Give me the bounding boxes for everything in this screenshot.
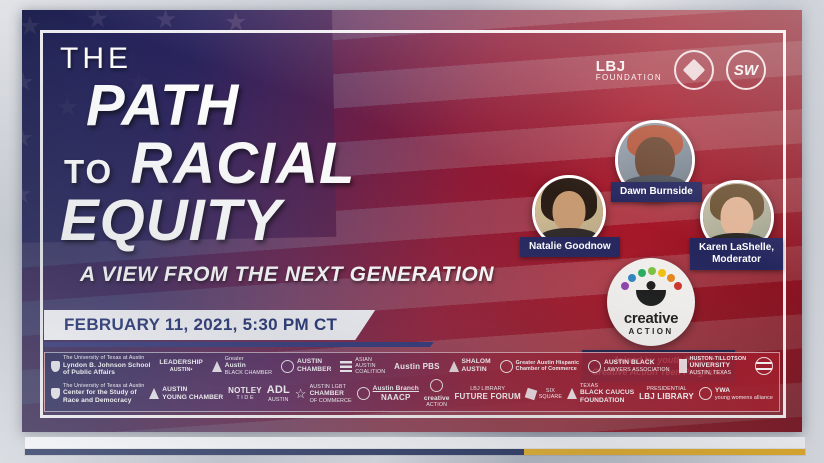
arc-dot: [648, 267, 656, 275]
sponsor-sub: of Public Affairs: [63, 369, 115, 376]
stripes-icon: [340, 361, 352, 372]
sponsor-main: Greater Austin Hispanic: [516, 360, 580, 366]
sponsor-row-1: The University of Texas at Austin Lyndon…: [51, 355, 773, 377]
desktop-backdrop: ★ ★ ★ ★ ★ ★ ★ ★ ★ ★ ★ ★ THE PATH TO RACI…: [0, 0, 824, 463]
slide-subtitle: A VIEW FROM THE NEXT GENERATION: [80, 263, 500, 287]
sponsor-sub: OF COMMERCE: [310, 398, 352, 404]
sponsor-sub: AUSTIN, TEXAS: [690, 370, 732, 376]
speaker-name-text: Karen LaShelle,: [699, 242, 774, 254]
title-racial-line: TO RACIAL: [64, 136, 500, 192]
sponsor-sub: AUSTIN•: [170, 367, 193, 373]
figure-body: [636, 290, 666, 306]
top-logo-row: LBJ FOUNDATION SW: [596, 50, 766, 90]
sponsor-main: SQUARE: [539, 394, 562, 400]
sponsor-main: creative: [424, 395, 450, 402]
sponsor-ut-center-race-democracy: The University of Texas at Austin Center…: [51, 383, 144, 405]
sponsor-sub: AUSTIN: [462, 366, 487, 373]
sponsor-sub: LAWYERS ASSOCIATION: [604, 367, 670, 373]
sponsor-sup: The University of Texas at Austin: [63, 355, 144, 361]
star-burst-icon: [212, 361, 222, 372]
title-path: PATH: [86, 78, 500, 134]
speaker-dawn-burnside: Dawn Burnside: [615, 120, 695, 200]
title-block: THE PATH TO RACIAL EQUITY A VIEW FROM TH…: [60, 44, 500, 287]
sponsor-sub: BLACK CHAMBER: [225, 370, 272, 376]
flower-mark-icon: [500, 360, 513, 373]
sponsor-sub: COALITION: [355, 369, 385, 375]
naacp-seal-icon: [357, 387, 370, 400]
sponsor-main: UNIVERSITY: [690, 362, 731, 369]
sponsor-equality-texas: [755, 357, 773, 375]
speaker-natalie-goodnow: Natalie Goodnow: [532, 175, 606, 249]
six-square-icon: [524, 388, 537, 401]
speaker-name-label: Natalie Goodnow: [520, 237, 620, 257]
ayc-mark-icon: [149, 388, 159, 399]
arc-dot: [674, 282, 682, 290]
sponsor-leadership-austin: LEADERSHIP AUSTIN•: [159, 359, 203, 373]
sponsor-main: AUSTIN: [297, 358, 322, 365]
creative-action-figure-icon: [636, 287, 666, 307]
sponsor-main: LBJ LIBRARY: [639, 392, 694, 401]
ut-shield-icon: [51, 388, 60, 399]
sponsor-sup: The University of Texas at Austin: [63, 383, 144, 389]
video-player-bar[interactable]: [0, 441, 824, 463]
arc-dot: [658, 269, 666, 277]
equality-icon: [755, 357, 773, 375]
sponsor-austin-young-chamber: AUSTIN YOUNG CHAMBER: [149, 386, 223, 402]
progress-track[interactable]: [25, 449, 805, 455]
sponsor-texas-black-caucus-foundation: TEXAS BLACK CAUCUS FOUNDATION: [567, 383, 634, 405]
sponsor-main: ADL: [267, 384, 290, 396]
seal-emblem-icon: [683, 59, 706, 82]
sponsor-sup: SIX: [546, 388, 555, 394]
title-racial: RACIAL: [130, 131, 355, 196]
ut-shield-icon: [51, 361, 60, 372]
sponsor-adl-austin: ADL AUSTIN: [267, 384, 290, 403]
sponsor-sup: AUSTIN LGBT: [310, 384, 346, 390]
sponsor-sub: Race and Democracy: [63, 397, 132, 404]
sponsor-sub: CHAMBER: [297, 366, 331, 373]
arc-dot: [667, 274, 675, 282]
sponsor-sub: young womens alliance: [715, 395, 773, 401]
sponsor-main: SHALOM: [462, 358, 491, 365]
sponsor-austin-lgbt-chamber: ☆ AUSTIN LGBT CHAMBER OF COMMERCE: [295, 384, 352, 405]
creative-action-word2: ACTION: [628, 327, 673, 336]
portrait-image: [535, 178, 603, 246]
sponsor-huston-tillotson-university: HUSTON-TILLOTSON UNIVERSITY AUSTIN, TEXA…: [679, 356, 747, 377]
arc-dot: [638, 269, 646, 277]
sponsor-main: LEADERSHIP: [159, 359, 203, 366]
sponsor-main: CHAMBER: [310, 390, 344, 397]
title-to: TO: [64, 153, 113, 190]
sponsor-creative-action: creative ACTION: [424, 379, 450, 409]
flame-icon: [449, 361, 459, 372]
speaker-role-text: Moderator: [699, 254, 774, 266]
sponsor-main: NOTLEY: [228, 386, 262, 395]
sponsor-main: Austin: [225, 362, 246, 369]
sponsor-ywa: YWA young womens alliance: [699, 387, 773, 401]
sponsor-main: Center for the Study of: [63, 389, 137, 396]
sponsor-sup: HUSTON-TILLOTSON: [690, 356, 747, 362]
sponsor-main: AUSTIN: [162, 386, 187, 393]
date-underbar: [44, 342, 434, 347]
creative-action-mark-icon: [430, 379, 443, 392]
sponsor-naacp-austin-branch: Austin Branch NAACP: [357, 385, 419, 402]
creative-action-word1: creative: [624, 310, 678, 327]
sponsor-sup: ASIAN: [355, 357, 372, 363]
sponsor-sup: Greater: [225, 356, 244, 362]
sponsor-row-2: The University of Texas at Austin Center…: [51, 379, 773, 409]
lbj-foundation-line1: LBJ: [596, 59, 662, 74]
speaker-karen-lashelle: Karen LaShelle, Moderator: [700, 180, 774, 254]
sponsor-sub: Chamber of Commerce: [516, 366, 577, 372]
creative-action-logo: creative ACTION: [607, 258, 695, 346]
sponsor-main: AUSTIN: [355, 363, 375, 369]
sponsor-austin-chamber: AUSTIN CHAMBER: [281, 358, 331, 374]
sponsor-main: YWA: [715, 387, 730, 394]
chamber-mark-icon: [281, 360, 294, 373]
progress-remaining[interactable]: [524, 449, 805, 455]
title-equity: EQUITY: [60, 193, 500, 249]
arc-dot: [628, 274, 636, 282]
sponsor-sup: PRESIDENTIAL: [646, 386, 686, 392]
ywa-mark-icon: [699, 387, 712, 400]
sponsor-lbj-library-future-forum: LBJ LIBRARY FUTURE FORUM: [454, 386, 520, 402]
sponsor-sub: ACTION: [426, 402, 447, 408]
sponsor-asian-austin: ASIAN AUSTIN COALITION: [340, 357, 385, 376]
sponsor-lbj-presidential-library: PRESIDENTIAL LBJ LIBRARY: [639, 386, 694, 402]
title-the: THE: [60, 44, 500, 74]
texas-flag-icon: [567, 388, 577, 399]
presentation-slide: ★ ★ ★ ★ ★ ★ ★ ★ ★ ★ ★ ★ THE PATH TO RACI…: [22, 10, 802, 432]
sponsor-greater-austin-hispanic-chamber: Greater Austin Hispanic Chamber of Comme…: [500, 360, 580, 373]
sw-logo: SW: [726, 50, 766, 90]
player-bar-background: [25, 437, 805, 449]
sponsor-main: BLACK CAUCUS: [580, 389, 634, 396]
sponsor-greater-austin-black-chamber: Greater Austin BLACK CHAMBER: [212, 356, 272, 377]
sponsor-sub: AUSTIN: [268, 397, 288, 403]
sponsor-sup: LBJ LIBRARY: [470, 386, 505, 392]
lbj-foundation-logo: LBJ FOUNDATION: [596, 59, 662, 82]
sponsor-main: NAACP: [381, 393, 410, 402]
sponsor-sub: FOUNDATION: [580, 397, 624, 404]
sponsor-main: Austin PBS: [394, 362, 440, 371]
sponsor-shalom-austin: SHALOM AUSTIN: [449, 358, 491, 374]
sponsor-six-square: SIX SQUARE: [526, 388, 562, 401]
abla-seal-icon: [588, 360, 601, 373]
ut-seal-logo: [674, 50, 714, 90]
speaker-name-label: Karen LaShelle, Moderator: [690, 238, 783, 270]
sponsor-sub: T I D E: [236, 395, 253, 401]
figure-head: [647, 281, 656, 290]
progress-played[interactable]: [25, 449, 524, 455]
sponsor-notley-tide: NOTLEY T I D E: [228, 386, 262, 402]
sponsor-main: AUSTIN BLACK: [604, 359, 655, 366]
lgbt-star-icon: ☆: [295, 386, 307, 401]
lbj-foundation-line2: FOUNDATION: [596, 74, 662, 82]
sponsor-sup: TEXAS: [580, 383, 598, 389]
sponsor-austin-black-lawyers-association: AUSTIN BLACK LAWYERS ASSOCIATION: [588, 359, 670, 373]
sponsor-main: Lyndon B. Johnson School: [63, 362, 151, 369]
sponsor-austin-pbs: Austin PBS: [394, 362, 440, 371]
sponsor-main: FUTURE FORUM: [454, 392, 520, 401]
date-banner: FEBRUARY 11, 2021, 5:30 PM CT: [44, 310, 375, 340]
arc-dot: [621, 282, 629, 290]
sponsor-sup: Austin Branch: [373, 385, 419, 392]
sponsor-ut-lbj-school: The University of Texas at Austin Lyndon…: [51, 355, 151, 377]
tower-icon: [679, 359, 687, 373]
sponsor-logo-bar: The University of Texas at Austin Lyndon…: [44, 352, 780, 412]
sponsor-sub: YOUNG CHAMBER: [162, 394, 223, 401]
speaker-name-label: Dawn Burnside: [611, 182, 702, 202]
